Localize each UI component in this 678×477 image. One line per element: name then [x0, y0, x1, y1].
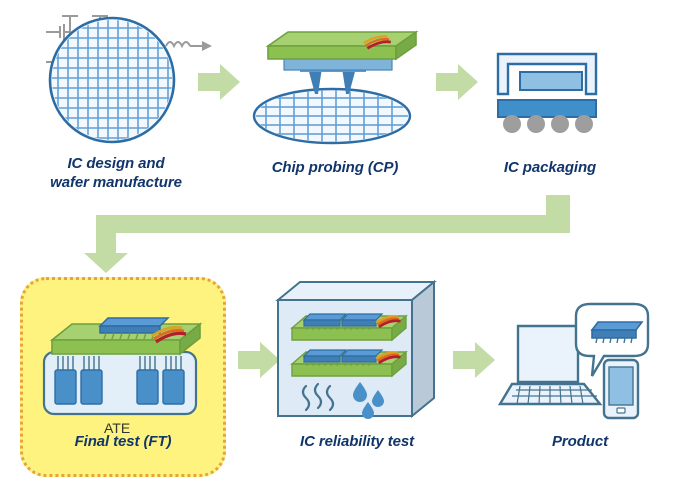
step-caption-chip-probing: Chip probing (CP) [244, 158, 426, 177]
chip-front-face-icon [100, 326, 160, 333]
step-caption-ic-design: IC design and wafer manufacture [16, 154, 216, 192]
bubble-chip-top-icon [592, 322, 642, 330]
step-icon-chip-probing [244, 28, 424, 146]
step-caption-ic-packaging: IC packaging [478, 158, 622, 177]
right-arrow-icon [198, 64, 240, 100]
chamber-top-face-icon [278, 282, 434, 300]
arrow-probing-to-packaging [434, 62, 482, 102]
chip-top-face-icon [100, 318, 168, 326]
die-icon [520, 72, 582, 90]
arrow-reliability-to-product [451, 340, 499, 380]
laptop-screen-icon [518, 326, 578, 382]
step-icon-ic-packaging [490, 48, 610, 138]
phone-screen-icon [609, 367, 633, 405]
step-caption-product: Product [510, 432, 650, 451]
right-arrow-icon [436, 64, 478, 100]
arrow-packaging-to-finaltest [80, 195, 570, 275]
arrow-design-to-probing [196, 62, 244, 102]
pcb-front-face-icon [268, 46, 396, 59]
step-icon-product [500, 300, 660, 424]
step-icon-reliability-test [272, 280, 442, 420]
bubble-chip-front-icon [592, 330, 636, 338]
chamber-side-face-icon [412, 282, 434, 416]
substrate-icon [498, 100, 596, 117]
step-caption-final-test: Final test (FT) [32, 432, 214, 451]
step-icon-final-test: ATE [32, 310, 214, 420]
pcb-top-face-icon [268, 32, 416, 46]
right-arrow-icon [453, 342, 495, 378]
diagram-canvas: IC design and wafer manufacture [0, 0, 678, 460]
step-caption-reliability-test: IC reliability test [262, 432, 452, 451]
waveform-arrowhead-icon [202, 41, 212, 51]
step-icon-ic-design [26, 4, 206, 146]
phone-home-button-icon [617, 408, 625, 413]
elbow-arrow-down-left-icon [84, 195, 570, 273]
loadboard-front-face-icon [52, 340, 180, 354]
